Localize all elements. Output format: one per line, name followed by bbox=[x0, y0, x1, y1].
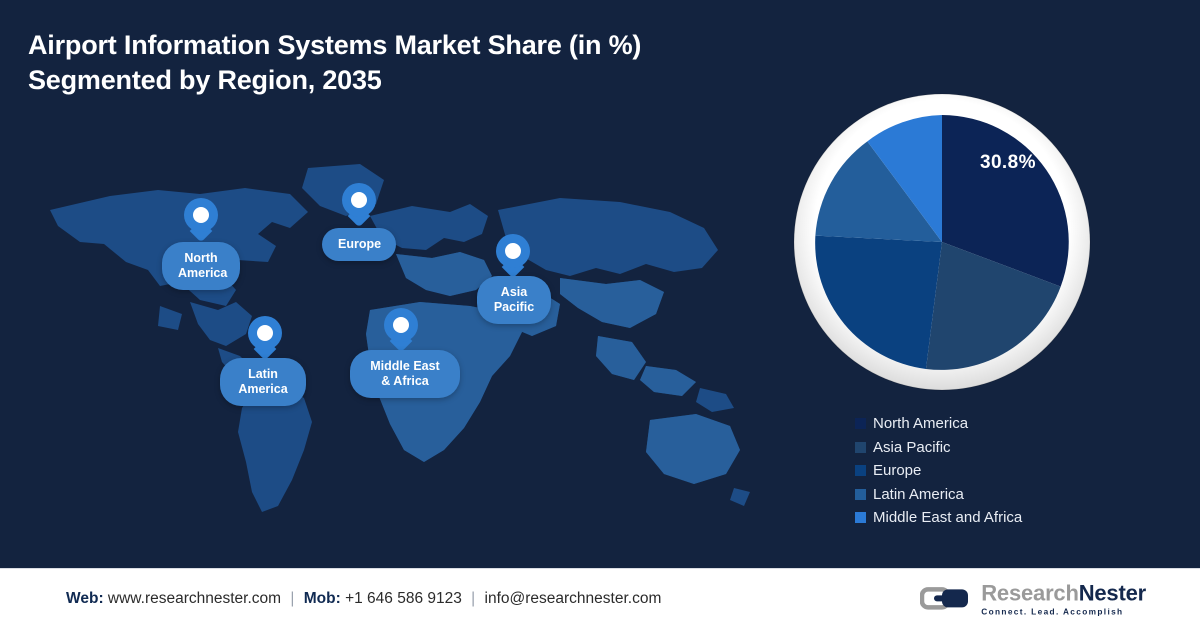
legend-swatch-icon bbox=[855, 512, 866, 523]
map-label-asia-pacific[interactable]: Asia Pacific bbox=[477, 276, 551, 324]
title-line-1: Airport Information Systems Market Share… bbox=[28, 28, 788, 63]
pin-dot-icon bbox=[393, 317, 409, 333]
pin-dot-icon bbox=[257, 325, 273, 341]
map-pin-north-america[interactable] bbox=[184, 198, 218, 242]
pin-dot-icon bbox=[351, 192, 367, 208]
legend-item-middle-east-africa[interactable]: Middle East and Africa bbox=[855, 506, 1155, 530]
map-pin-europe[interactable] bbox=[342, 183, 376, 227]
legend-item-asia-pacific[interactable]: Asia Pacific bbox=[855, 436, 1155, 460]
logo-link-icon bbox=[920, 584, 972, 612]
footer-email-value[interactable]: info@researchnester.com bbox=[485, 590, 662, 607]
pie-chart-graphic bbox=[762, 92, 1122, 392]
footer-separator: | bbox=[285, 590, 299, 607]
map-pin-asia-pacific[interactable] bbox=[496, 234, 530, 278]
footer-contact-info: Web: www.researchnester.com | Mob: +1 64… bbox=[66, 590, 661, 608]
company-logo[interactable]: ResearchNester Connect. Lead. Accomplish bbox=[920, 582, 1146, 615]
chart-legend: North America Asia Pacific Europe Latin … bbox=[855, 412, 1155, 530]
legend-label: Asia Pacific bbox=[873, 439, 951, 456]
legend-label: North America bbox=[873, 415, 968, 432]
footer-mob-label: Mob: bbox=[304, 590, 341, 607]
legend-label: Europe bbox=[873, 462, 921, 479]
legend-item-latin-america[interactable]: Latin America bbox=[855, 483, 1155, 507]
map-pin-middle-east-africa[interactable] bbox=[384, 308, 418, 352]
legend-item-europe[interactable]: Europe bbox=[855, 459, 1155, 483]
pie-chart: 30.8% bbox=[762, 92, 1122, 392]
legend-swatch-icon bbox=[855, 418, 866, 429]
logo-name-second: Nester bbox=[1079, 580, 1146, 605]
legend-label: Latin America bbox=[873, 486, 964, 503]
footer-separator: | bbox=[466, 590, 480, 607]
map-label-latin-america[interactable]: Latin America bbox=[220, 358, 306, 406]
logo-wordmark: ResearchNester Connect. Lead. Accomplish bbox=[981, 582, 1146, 615]
page-title: Airport Information Systems Market Share… bbox=[28, 28, 788, 97]
map-label-middle-east-africa[interactable]: Middle East & Africa bbox=[350, 350, 460, 398]
logo-name-first: Research bbox=[981, 580, 1078, 605]
footer-mob-value[interactable]: +1 646 586 9123 bbox=[345, 590, 462, 607]
world-map: North America Europe Asia Pacific Latin … bbox=[40, 150, 750, 530]
map-pin-latin-america[interactable] bbox=[248, 316, 282, 360]
footer-web-value[interactable]: www.researchnester.com bbox=[108, 590, 281, 607]
legend-label: Middle East and Africa bbox=[873, 509, 1022, 526]
legend-item-north-america[interactable]: North America bbox=[855, 412, 1155, 436]
footer-bar: Web: www.researchnester.com | Mob: +1 64… bbox=[0, 568, 1200, 628]
pin-dot-icon bbox=[505, 243, 521, 259]
pie-slice-europe[interactable] bbox=[815, 236, 942, 369]
infographic-canvas: Airport Information Systems Market Share… bbox=[0, 0, 1200, 628]
map-label-north-america[interactable]: North America bbox=[162, 242, 240, 290]
title-line-2: Segmented by Region, 2035 bbox=[28, 63, 788, 98]
logo-tagline: Connect. Lead. Accomplish bbox=[981, 607, 1146, 615]
logo-name: ResearchNester bbox=[981, 582, 1146, 604]
legend-swatch-icon bbox=[855, 465, 866, 476]
pie-slice-value-label: 30.8% bbox=[980, 152, 1036, 174]
legend-swatch-icon bbox=[855, 442, 866, 453]
footer-web-label: Web: bbox=[66, 590, 104, 607]
map-label-europe[interactable]: Europe bbox=[322, 228, 396, 261]
pin-dot-icon bbox=[193, 207, 209, 223]
legend-swatch-icon bbox=[855, 489, 866, 500]
